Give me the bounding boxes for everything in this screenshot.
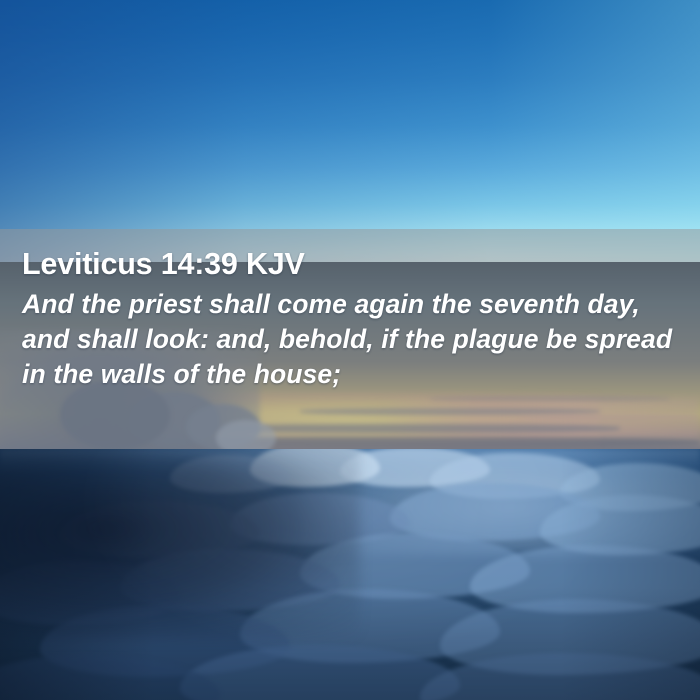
verse-text: And the priest shall come again the seve…: [22, 287, 692, 392]
cloud-sea: [0, 449, 700, 700]
verse-text-overlay: Leviticus 14:39 KJV And the priest shall…: [0, 229, 700, 449]
verse-image-canvas: Leviticus 14:39 KJV And the priest shall…: [0, 0, 700, 700]
sky-gradient: [0, 0, 700, 262]
cloud-sea-vignette: [0, 449, 700, 700]
verse-reference: Leviticus 14:39 KJV: [22, 247, 305, 282]
